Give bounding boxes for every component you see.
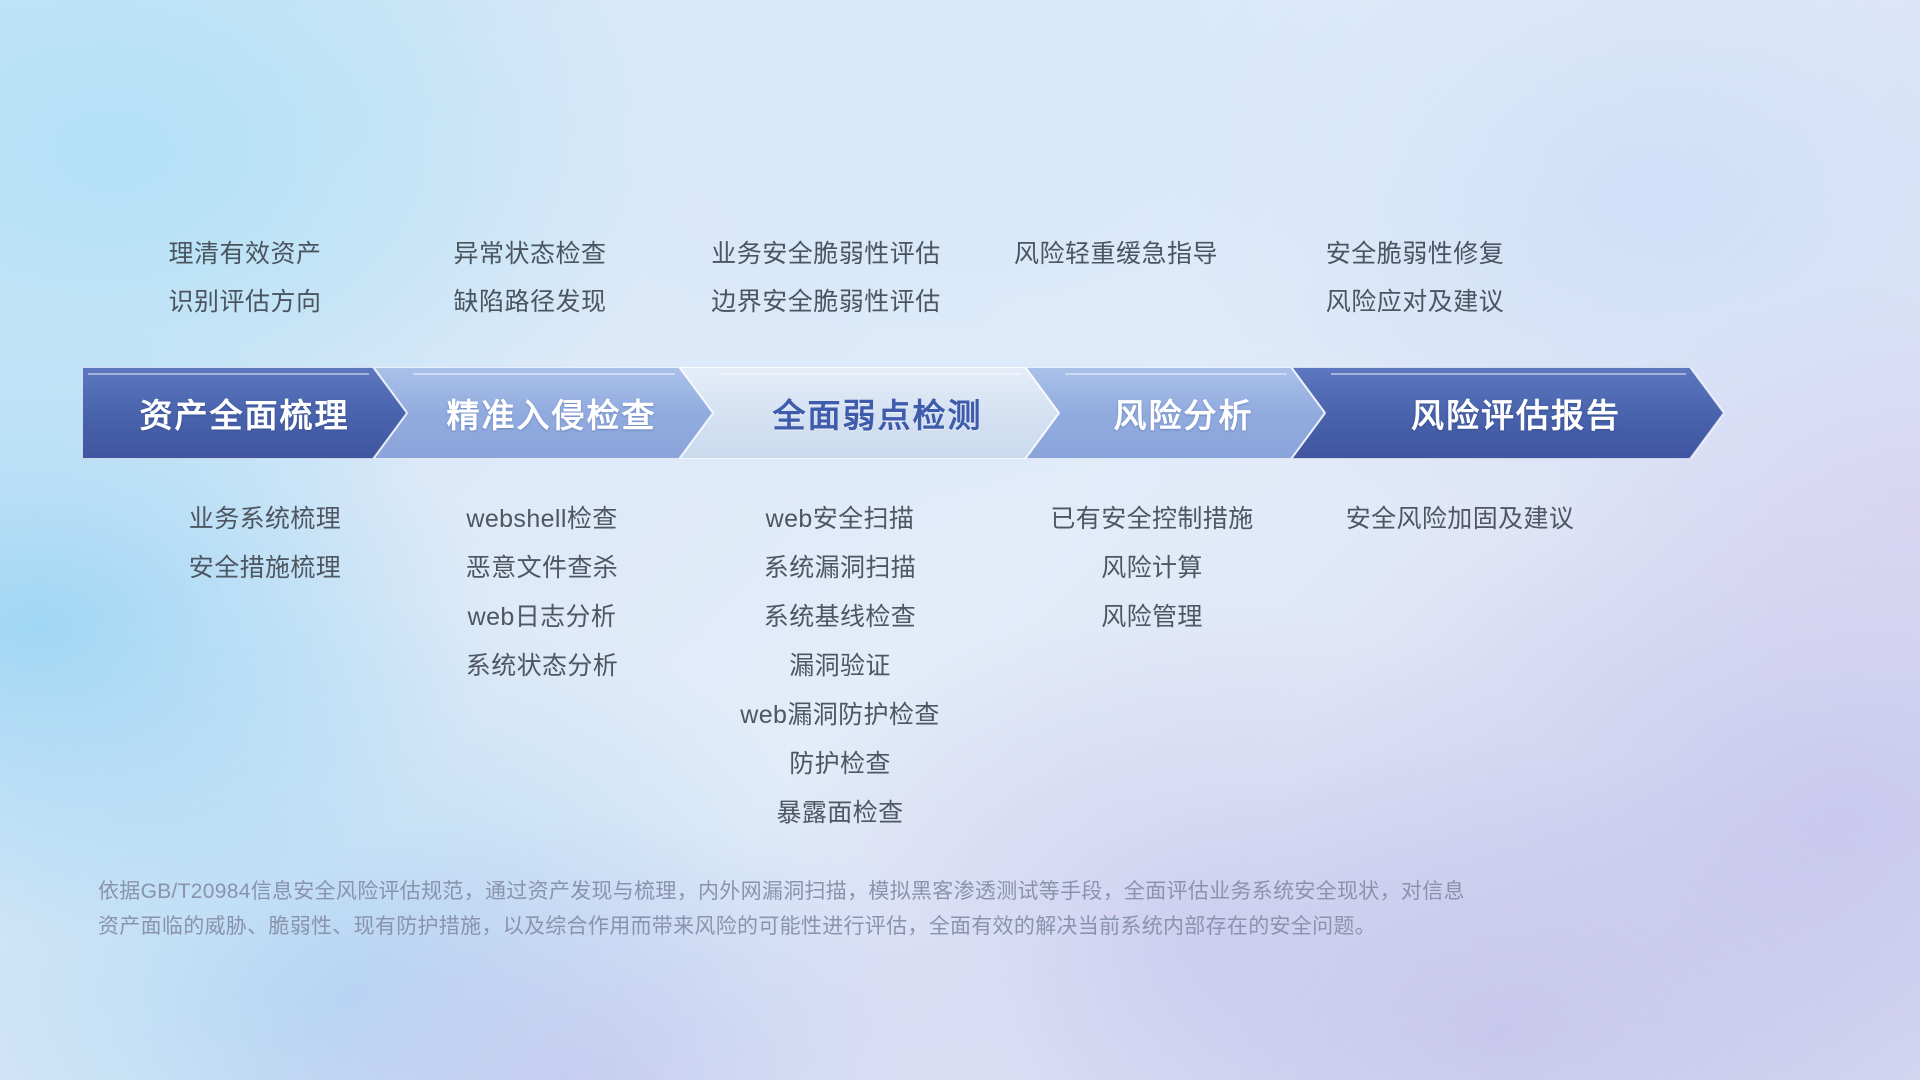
- detail-item: web日志分析: [468, 593, 617, 642]
- detail-item: 已有安全控制措施: [1050, 495, 1253, 544]
- detail-item: 系统漏洞扫描: [764, 544, 916, 593]
- process-stage-3[interactable]: 全面弱点检测: [679, 367, 1059, 459]
- detail-item: 安全措施梳理: [189, 544, 341, 593]
- process-stage-4[interactable]: 风险分析: [1025, 367, 1325, 459]
- detail-item: 风险计算: [1101, 544, 1203, 593]
- process-stage-5[interactable]: 风险评估报告: [1291, 367, 1724, 459]
- detail-item: 安全风险加固及建议: [1346, 495, 1575, 544]
- stage-detail-list-4: 已有安全控制措施风险计算风险管理: [1050, 495, 1253, 642]
- top-label: 缺陷路径发现: [453, 278, 606, 326]
- slide-canvas: 理清有效资产识别评估方向异常状态检查缺陷路径发现业务安全脆弱性评估边界安全脆弱性…: [0, 0, 1920, 1080]
- top-label: 理清有效资产: [168, 230, 321, 278]
- footer-description: 依据GB/T20984信息安全风险评估规范，通过资产发现与梳理，内外网漏洞扫描，…: [98, 874, 1658, 944]
- top-label: 边界安全脆弱性评估: [711, 278, 941, 326]
- stage-detail-list-2: webshell检查恶意文件查杀web日志分析系统状态分析: [466, 495, 618, 691]
- stage-title: 风险评估报告: [1411, 389, 1621, 437]
- process-stage-1[interactable]: 资产全面梳理: [82, 367, 407, 459]
- detail-item: 暴露面检查: [776, 789, 903, 838]
- detail-item: 系统状态分析: [466, 642, 618, 691]
- detail-item: web漏洞防护检查: [740, 691, 939, 740]
- detail-item: web安全扫描: [766, 495, 915, 544]
- top-label: 识别评估方向: [168, 278, 321, 326]
- top-labels-row: 理清有效资产识别评估方向异常状态检查缺陷路径发现业务安全脆弱性评估边界安全脆弱性…: [80, 230, 1860, 320]
- top-label-group-4: 风险轻重缓急指导: [1014, 230, 1218, 278]
- stage-detail-list-1: 业务系统梳理安全措施梳理: [189, 495, 341, 593]
- detail-item: 防护检查: [789, 740, 891, 789]
- detail-item: 系统基线检查: [764, 593, 916, 642]
- stage-title: 资产全面梳理: [140, 389, 350, 437]
- stage-title: 精准入侵检查: [447, 389, 657, 437]
- detail-item: webshell检查: [466, 495, 617, 544]
- top-label-group-3: 业务安全脆弱性评估边界安全脆弱性评估: [711, 230, 941, 326]
- detail-item: 漏洞验证: [789, 642, 891, 691]
- top-label-group-5: 安全脆弱性修复风险应对及建议: [1326, 230, 1505, 326]
- process-chevron-banner: 资产全面梳理精准入侵检查全面弱点检测风险分析风险评估报告: [82, 367, 1860, 459]
- top-label: 风险轻重缓急指导: [1014, 230, 1218, 278]
- top-label: 异常状态检查: [453, 230, 606, 278]
- top-label-group-2: 异常状态检查缺陷路径发现: [453, 230, 606, 326]
- process-stage-2[interactable]: 精准入侵检查: [373, 367, 713, 459]
- top-label-group-1: 理清有效资产识别评估方向: [168, 230, 321, 326]
- detail-item: 风险管理: [1101, 593, 1203, 642]
- stage-title: 全面弱点检测: [773, 389, 983, 437]
- detail-item: 恶意文件查杀: [466, 544, 618, 593]
- stage-detail-list-5: 安全风险加固及建议: [1346, 495, 1575, 544]
- footer-line-1: 依据GB/T20984信息安全风险评估规范，通过资产发现与梳理，内外网漏洞扫描，…: [98, 874, 1658, 909]
- stage-detail-list-3: web安全扫描系统漏洞扫描系统基线检查漏洞验证web漏洞防护检查防护检查暴露面检…: [740, 495, 939, 838]
- footer-line-2: 资产面临的威胁、脆弱性、现有防护措施，以及综合作用而带来风险的可能性进行评估，全…: [98, 909, 1658, 944]
- top-label: 安全脆弱性修复: [1326, 230, 1505, 278]
- detail-item: 业务系统梳理: [189, 495, 341, 544]
- top-label: 风险应对及建议: [1326, 278, 1505, 326]
- top-label: 业务安全脆弱性评估: [711, 230, 941, 278]
- stage-title: 风险分析: [1114, 389, 1254, 437]
